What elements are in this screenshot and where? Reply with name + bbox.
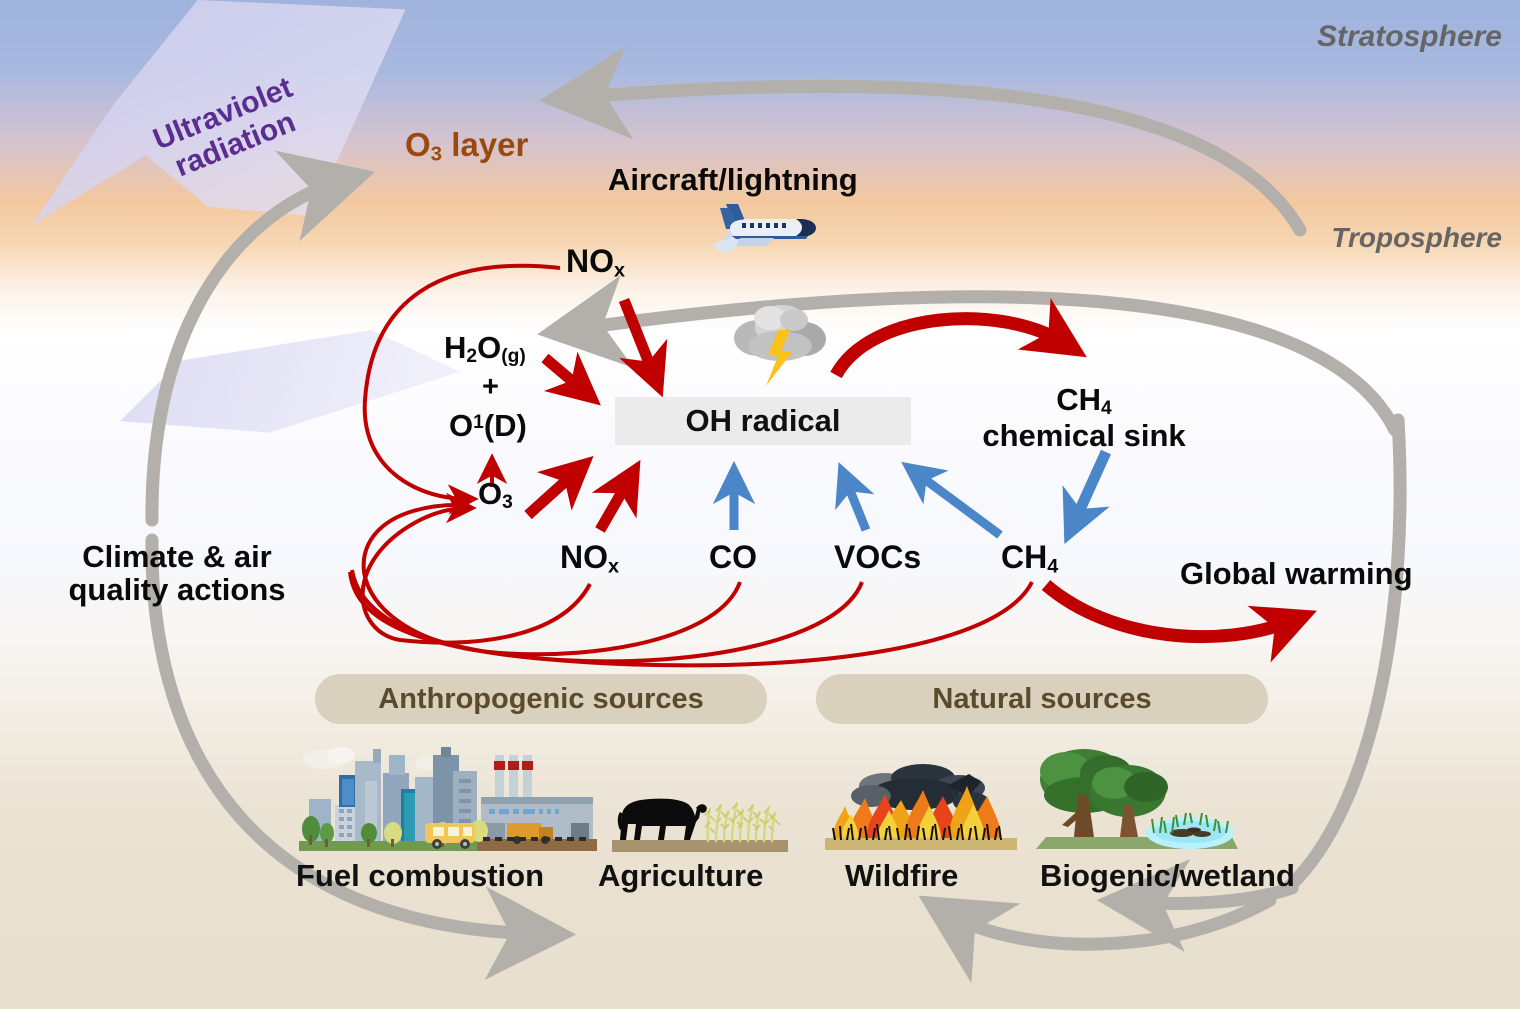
natural-sources-pill[interactable]: Natural sources <box>816 674 1268 724</box>
ch4-chemical-sink-label: CH4chemical sink <box>955 384 1213 452</box>
nox-lower-label: NOx <box>560 541 619 577</box>
climate-line2: quality actions <box>68 572 285 607</box>
natural-sources-label: Natural sources <box>932 683 1151 716</box>
cow-crops-icon <box>604 768 796 856</box>
wildfire-label: Wildfire <box>845 858 958 894</box>
city-factory-icon <box>283 733 599 855</box>
nox-upper-label: NOx <box>566 245 625 281</box>
thundercloud-lightning-icon <box>724 294 834 396</box>
o1d-label: O1(D) <box>449 410 527 443</box>
oh-radical-label: OH radical <box>685 403 840 439</box>
climate-line1: Climate & air <box>82 539 272 574</box>
trees-wetland-icon <box>1022 733 1246 855</box>
climate-air-quality-actions-label: Climate & air quality actions <box>52 541 302 607</box>
airplane-icon <box>696 198 822 260</box>
cow-icon <box>618 799 707 840</box>
blue-arrow-ch4-to-oh <box>915 472 1000 535</box>
wildfire-icon <box>819 758 1023 854</box>
co-label: CO <box>709 541 757 575</box>
h2o-gas-label: H2O(g) <box>444 332 526 368</box>
aircraft-lightning-label: Aircraft/lightning <box>608 164 858 197</box>
o3-label: O3 <box>478 478 513 514</box>
vocs-label: VOCs <box>834 541 921 575</box>
biogenic-wetland-label: Biogenic/wetland <box>1040 858 1295 894</box>
plus-sign-label: + <box>482 372 499 403</box>
blue-arrow-vocs-to-oh <box>845 478 866 530</box>
trees-icon <box>1040 749 1168 837</box>
agriculture-label: Agriculture <box>598 858 763 894</box>
blue-arrow-ch4sink-to-ch4 <box>1073 452 1106 525</box>
ch4-label: CH4 <box>1001 541 1058 577</box>
o3-layer-label: O3 layer <box>405 128 528 165</box>
wetland-pond-icon <box>1146 813 1234 849</box>
anthropogenic-sources-label: Anthropogenic sources <box>378 683 704 716</box>
anthropogenic-sources-pill[interactable]: Anthropogenic sources <box>315 674 767 724</box>
stratosphere-label: Stratosphere <box>1317 20 1502 54</box>
fuel-combustion-label: Fuel combustion <box>296 858 544 894</box>
global-warming-label: Global warming <box>1180 558 1413 591</box>
diagram-canvas: Stratosphere Troposphere Ultraviolet rad… <box>0 0 1520 1009</box>
ch4-sink-line2: chemical sink <box>982 418 1185 453</box>
oh-radical-box: OH radical <box>615 397 911 445</box>
troposphere-label: Troposphere <box>1331 222 1502 254</box>
